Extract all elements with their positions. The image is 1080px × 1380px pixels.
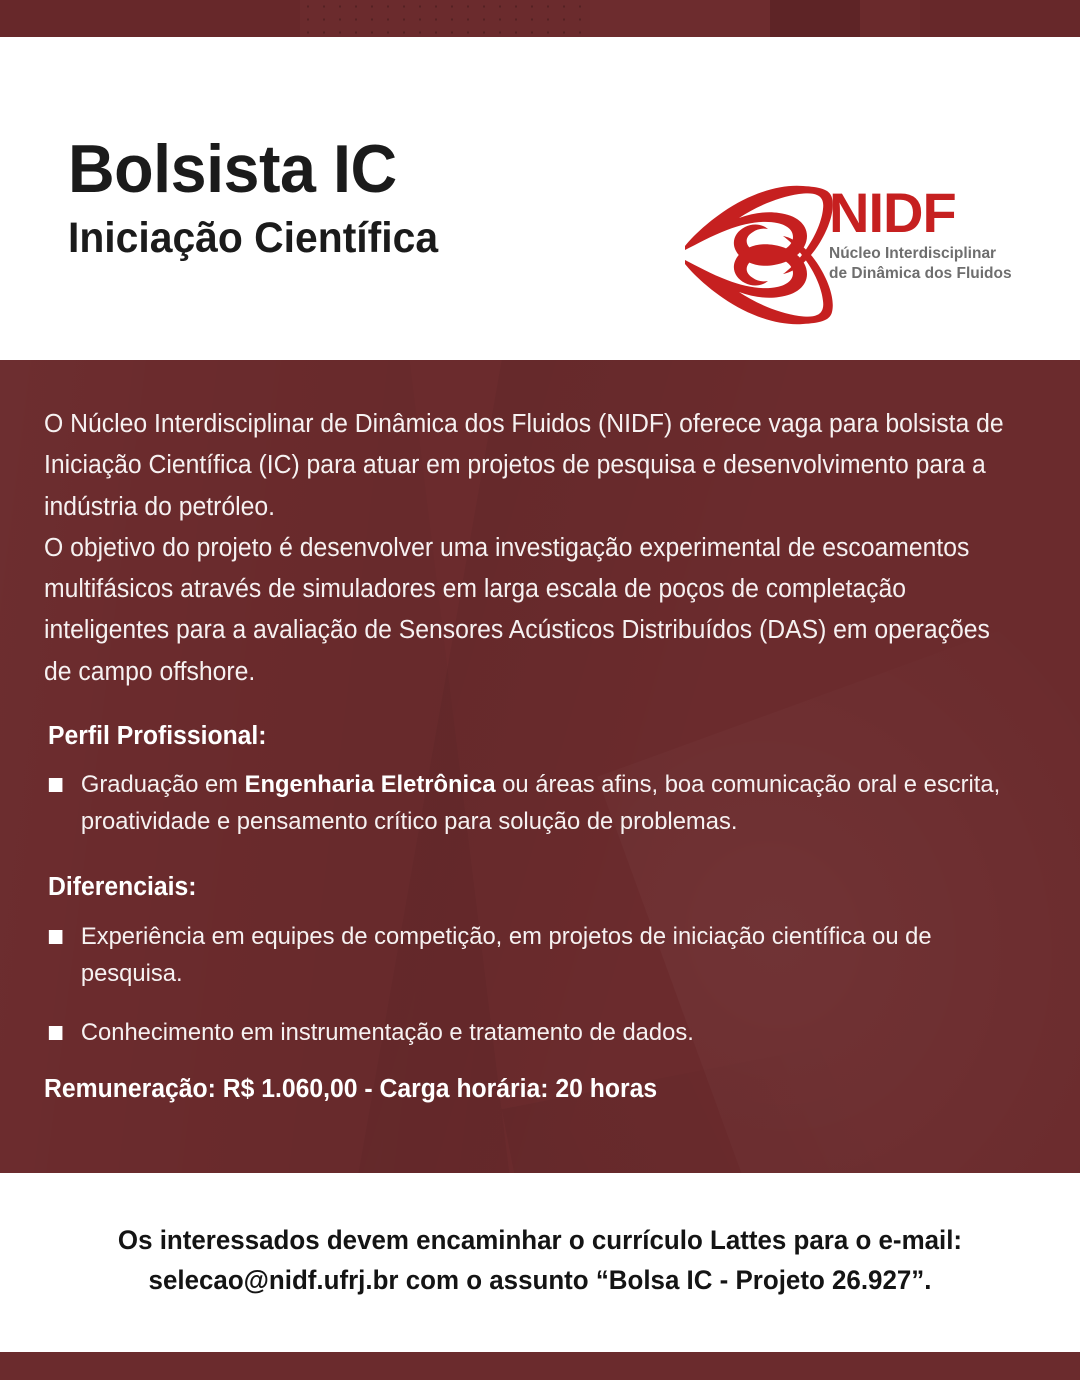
poster-footer: Os interessados devem encaminhar o currí… [0,1173,1080,1352]
job-posting-poster: Bolsista IC Iniciação Científica NIDF Nú… [0,0,1080,1380]
perfil-requirements-list: Graduação em Engenharia Eletrônica ou ár… [44,766,1014,840]
logo-tagline-line-2: de Dinâmica dos Fluidos [829,264,1029,284]
list-item: Graduação em Engenharia Eletrônica ou ár… [44,766,1014,840]
logo-acronym: NIDF [829,186,1029,239]
logo-text-block: NIDF Núcleo Interdisciplinar de Dinâmica… [829,186,1029,284]
list-item-prefix: Graduação em [81,771,245,798]
diferenciais-list: Experiência em equipes de competição, em… [44,918,1014,1052]
poster-header: Bolsista IC Iniciação Científica NIDF Nú… [0,37,1080,360]
section-heading-perfil: Perfil Profissional: [48,722,267,751]
intro-paragraph-2: O objetivo do projeto é desenvolver uma … [44,528,1004,693]
logo-tagline: Núcleo Interdisciplinar de Dinâmica dos … [829,244,1029,284]
section-heading-diferenciais: Diferenciais: [48,873,196,902]
application-instructions: Os interessados devem encaminhar o currí… [22,1221,1059,1301]
list-item: Conhecimento em instrumentação e tratame… [44,1014,1014,1051]
content-panel-inner: O Núcleo Interdisciplinar de Dinâmica do… [0,360,1080,1173]
logo-tagline-line-1: Núcleo Interdisciplinar [829,244,1029,264]
page-subtitle: Iniciação Científica [68,217,438,260]
title-block: Bolsista IC Iniciação Científica [68,135,458,260]
application-instructions-line-2: selecao@nidf.ufrj.br com o assunto “Bols… [22,1261,1059,1301]
application-instructions-line-1: Os interessados devem encaminhar o currí… [22,1221,1059,1261]
top-bar-band-1 [590,0,770,37]
list-item-label: Experiência em equipes de competição, em… [81,923,932,987]
intro-text: O Núcleo Interdisciplinar de Dinâmica do… [44,404,1004,693]
bottom-decorative-bar [0,1352,1080,1380]
nidf-vortex-mark-icon [683,180,835,330]
top-bar-dot-texture [300,0,590,37]
square-bullet-icon [49,930,63,944]
top-decorative-bar [0,0,1080,37]
list-item: Experiência em equipes de competição, em… [44,918,1014,992]
intro-paragraph-1: O Núcleo Interdisciplinar de Dinâmica do… [44,404,1004,528]
square-bullet-icon [49,1026,63,1040]
page-title: Bolsista IC [68,135,438,203]
top-bar-band-3 [860,0,920,37]
square-bullet-icon [49,778,63,792]
remuneration-line: Remuneração: R$ 1.060,00 - Carga horária… [44,1075,657,1104]
nidf-logo: NIDF Núcleo Interdisciplinar de Dinâmica… [683,180,1023,330]
top-bar-band-2 [770,0,860,37]
content-panel: O Núcleo Interdisciplinar de Dinâmica do… [0,360,1080,1173]
list-item-emphasis: Engenharia Eletrônica [245,771,496,798]
list-item-label: Conhecimento em instrumentação e tratame… [81,1019,694,1046]
